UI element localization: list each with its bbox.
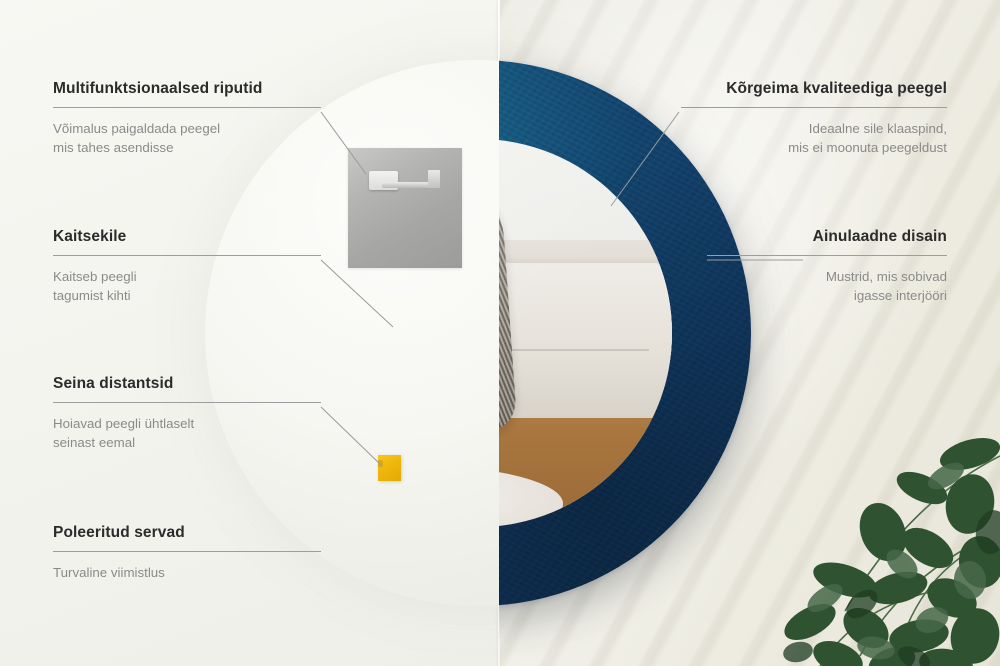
foliage-decoration [670, 336, 1000, 666]
callout-rule [53, 107, 321, 108]
hanger-clip [428, 170, 441, 188]
callout-title: Kõrgeima kvaliteediga peegel [681, 80, 947, 98]
callout-title: Seina distantsid [53, 375, 321, 393]
callout-rule [707, 255, 947, 256]
mirror-glass-reflection [499, 139, 672, 527]
callout-kaitsekile: Kaitsekile Kaitseb peegli tagumist kihti [53, 228, 321, 305]
callout-rule [53, 402, 321, 403]
callout-title: Multifunktsionaalsed riputid [53, 80, 321, 98]
infographic-canvas: Multifunktsionaalsed riputid Võimalus pa… [0, 0, 1000, 666]
callout-ainulaadne-disain: Ainulaadne disain Mustrid, mis sobivad i… [707, 228, 947, 305]
callout-description: Võimalus paigaldada peegel mis tahes ase… [53, 119, 321, 157]
callout-rule [53, 551, 321, 552]
reflected-sofa [499, 263, 672, 418]
callout-title: Ainulaadne disain [707, 228, 947, 246]
callout-title: Kaitsekile [53, 228, 321, 246]
hanger-detail-photo [348, 148, 462, 268]
wall-spacer-chip [378, 455, 401, 481]
callout-rule [53, 255, 321, 256]
callout-korgeima-kvaliteediga-peegel: Kõrgeima kvaliteediga peegel Ideaalne si… [681, 80, 947, 157]
callout-title: Poleeritud servad [53, 524, 321, 542]
callout-description: Turvaline viimistlus [53, 563, 321, 582]
callout-multifunktsionaalsed-riputid: Multifunktsionaalsed riputid Võimalus pa… [53, 80, 321, 157]
callout-poleeritud-servad: Poleeritud servad Turvaline viimistlus [53, 524, 321, 582]
callout-description: Mustrid, mis sobivad igasse interjööri [707, 267, 947, 305]
reflected-cushion-seam [499, 349, 649, 351]
callout-rule [681, 107, 947, 108]
callout-seina-distantsid: Seina distantsid Hoiavad peegli ühtlasel… [53, 375, 321, 452]
callout-description: Ideaalne sile klaaspind, mis ei moonuta … [681, 119, 947, 157]
callout-description: Kaitseb peegli tagumist kihti [53, 267, 321, 305]
callout-description: Hoiavad peegli ühtlaselt seinast eemal [53, 414, 321, 452]
